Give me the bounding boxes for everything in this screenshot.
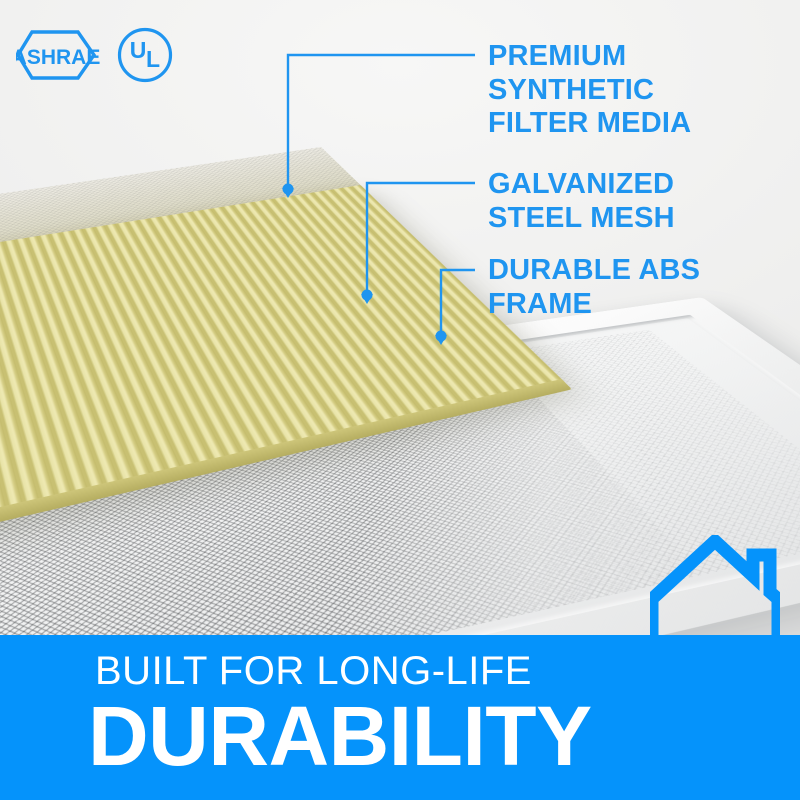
ul-letter-l: L [146,46,160,72]
house-outline [652,541,778,635]
ashrae-hexagon-icon: ASHRAE [16,24,102,86]
ashrae-wordmark: ASHRAE [16,46,100,69]
certification-badges: ASHRAE U L [16,24,174,86]
callout-label-filter-media: PREMIUM SYNTHETIC FILTER MEDIA [488,40,691,141]
infographic-root: PREMIUM SYNTHETIC FILTER MEDIA GALVANIZE… [0,0,800,800]
callout-label-abs-frame: DURABLE ABS FRAME [488,254,700,321]
ul-circle-icon: U L [116,26,174,84]
house-icon [650,535,780,637]
bottom-banner: BUILT FOR LONG-LIFE DURABILITY [0,635,800,800]
banner-headline: DURABILITY [88,688,592,785]
ul-letter-u: U [130,37,147,63]
callout-label-steel-mesh: GALVANIZED STEEL MESH [488,168,675,235]
product-photo: PREMIUM SYNTHETIC FILTER MEDIA GALVANIZE… [0,0,800,640]
